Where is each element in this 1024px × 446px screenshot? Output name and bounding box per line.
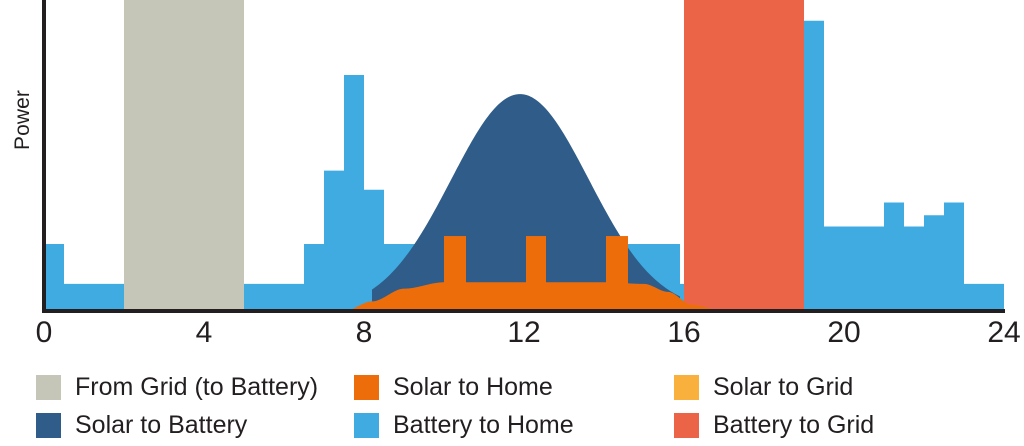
legend-swatch-icon: [674, 413, 699, 438]
series-solar-to-home-spike-3: [606, 236, 628, 311]
legend-label: Battery to Home: [393, 413, 574, 438]
legend-label: From Grid (to Battery): [75, 375, 318, 400]
x-tick-label-12: 12: [507, 318, 540, 348]
legend-item-solar-to-grid[interactable]: Solar to Grid: [674, 375, 994, 400]
legend-item-solar-to-battery[interactable]: Solar to Battery: [36, 413, 354, 438]
legend-swatch-icon: [674, 375, 699, 400]
legend-label: Solar to Home: [393, 375, 553, 400]
legend-swatch-icon: [36, 413, 61, 438]
x-tick-label-24: 24: [987, 318, 1020, 348]
x-tick-label-20: 20: [827, 318, 860, 348]
series-battery-to-grid: [684, 0, 804, 311]
legend-label: Battery to Grid: [713, 413, 874, 438]
series-solar-to-home-spike-2: [526, 236, 546, 311]
energy-flow-chart: Power 04812162024 From Grid (to Battery)…: [0, 0, 1024, 446]
legend-item-solar-to-home[interactable]: Solar to Home: [354, 375, 674, 400]
legend-item-from-grid-to-battery[interactable]: From Grid (to Battery): [36, 375, 354, 400]
x-tick-label-16: 16: [667, 318, 700, 348]
series-from-grid-to-battery: [124, 0, 244, 311]
legend-label: Solar to Battery: [75, 413, 247, 438]
legend-swatch-icon: [36, 375, 61, 400]
legend-swatch-icon: [354, 375, 379, 400]
chart-legend: From Grid (to Battery)Solar to BatterySo…: [36, 368, 1016, 444]
legend-label: Solar to Grid: [713, 375, 853, 400]
series-solar-to-home-spike-1: [444, 236, 466, 311]
legend-item-battery-to-grid[interactable]: Battery to Grid: [674, 413, 994, 438]
legend-swatch-icon: [354, 413, 379, 438]
x-tick-label-8: 8: [356, 318, 373, 348]
x-tick-label-4: 4: [196, 318, 213, 348]
legend-item-battery-to-home[interactable]: Battery to Home: [354, 413, 674, 438]
x-tick-label-0: 0: [36, 318, 53, 348]
plot-area: [0, 0, 1024, 340]
